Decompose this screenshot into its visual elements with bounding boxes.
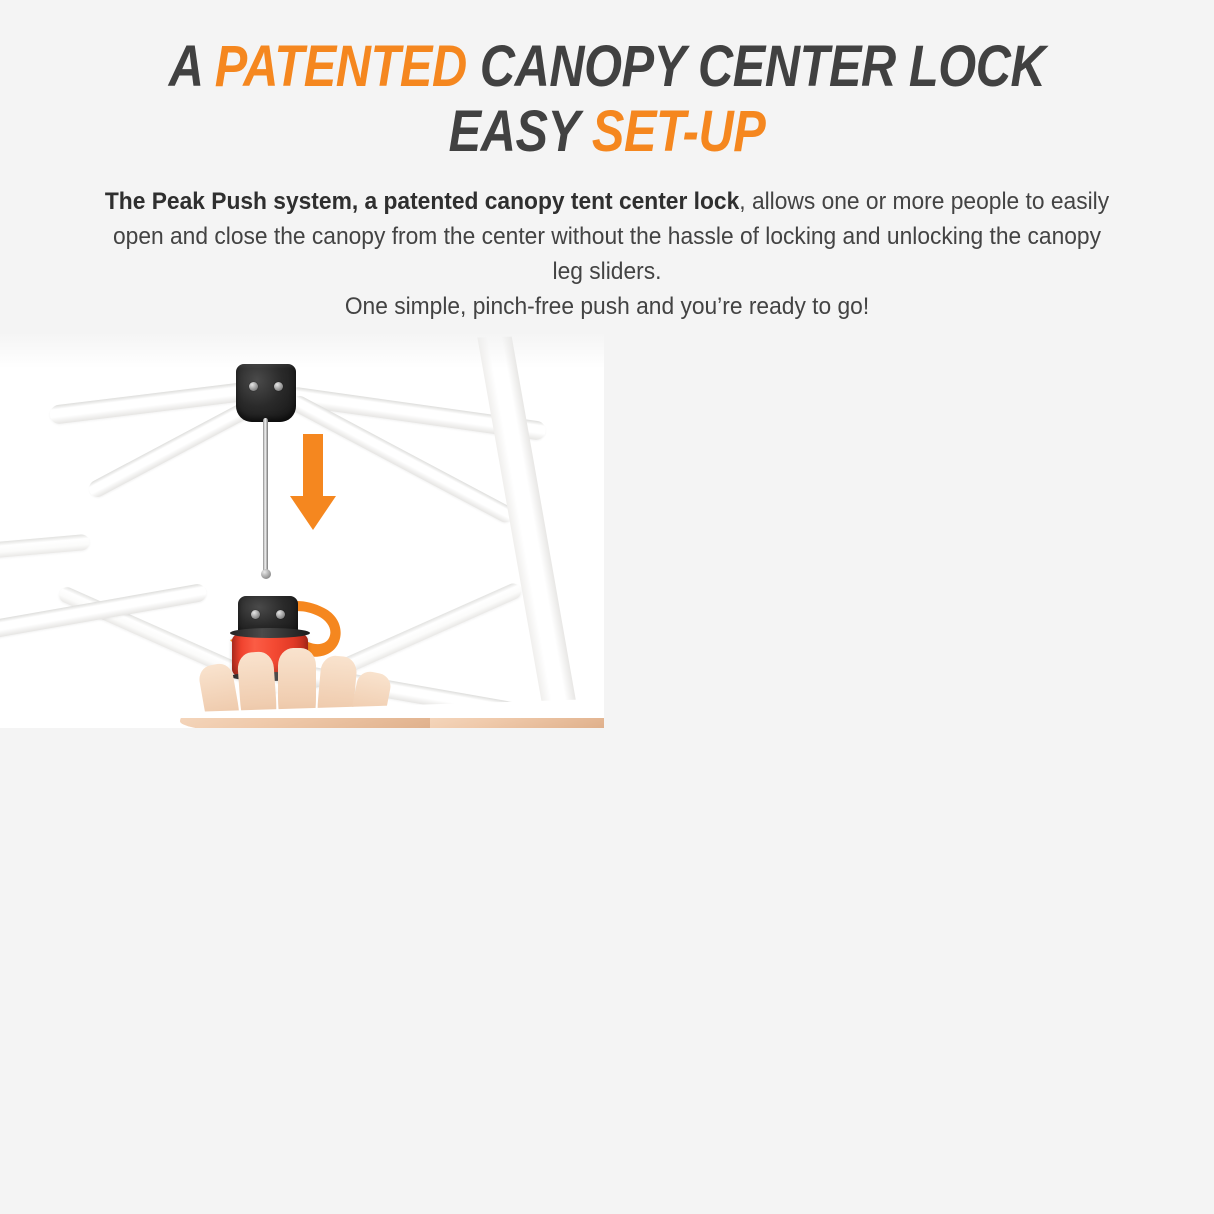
title-text-easy: EASY	[449, 99, 592, 164]
instruction-photo-grid	[0, 334, 1214, 1134]
peak-hub	[236, 364, 296, 422]
hub-screw	[251, 610, 260, 619]
page-title-line-1: A PATENTED CANOPY CENTER LOCK	[97, 36, 1117, 99]
finger	[237, 651, 279, 718]
page-header: A PATENTED CANOPY CENTER LOCK EASY SET-U…	[0, 0, 1214, 163]
photo-hand-twist-release	[0, 334, 604, 718]
description-paragraph: The Peak Push system, a patented canopy …	[105, 185, 1109, 324]
gripping-hand	[200, 646, 390, 718]
arrow-down-icon	[290, 434, 336, 530]
frame-tube	[0, 534, 90, 562]
title-highlight-patented: PATENTED	[215, 34, 467, 99]
title-text-canopy-center-lock: CANOPY CENTER LOCK	[467, 34, 1046, 99]
hub-screw	[274, 382, 283, 391]
description-final-line: One simple, pinch-free push and you’re r…	[105, 290, 1109, 325]
page-title-line-2: EASY SET-UP	[97, 101, 1117, 164]
description-lead: The Peak Push system, a patented canopy …	[105, 188, 739, 215]
push-rod	[263, 418, 268, 574]
panel-hand-twist-release[interactable]	[0, 334, 604, 718]
hub-screw	[249, 382, 258, 391]
hub-screw	[276, 610, 285, 619]
title-text-a: A	[169, 34, 215, 99]
canopy-leg-tube	[474, 334, 584, 718]
title-highlight-setup: SET-UP	[592, 99, 765, 164]
finger	[314, 655, 358, 718]
finger	[278, 648, 316, 718]
